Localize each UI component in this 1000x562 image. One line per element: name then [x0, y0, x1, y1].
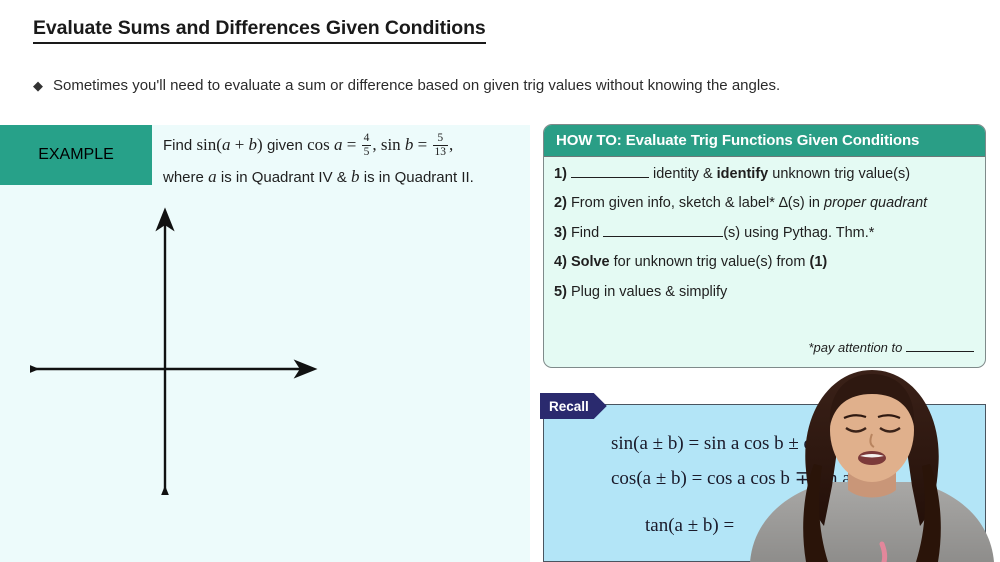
how-to-title: HOW TO: Evaluate Trig Functions Given Co… — [556, 132, 919, 149]
how-to-step-2: 2) From given info, sketch & label* ∆(s)… — [554, 195, 975, 212]
intro-bullet: ◆ Sometimes you'll need to evaluate a su… — [33, 76, 780, 96]
step-number: 2) — [554, 195, 567, 211]
fill-in-blank[interactable] — [906, 351, 974, 352]
recall-tag-label: Recall — [549, 399, 589, 414]
prompt-quadrant-ii: is in Quadrant II. — [364, 169, 474, 186]
prompt-quadrant-iv: is in Quadrant IV & — [221, 169, 347, 186]
step-italic-phrase: proper quadrant — [824, 195, 927, 211]
fraction-cos-a: 4 5 — [362, 132, 372, 157]
step-number: 5) — [554, 284, 567, 300]
formula-tangent-sum-difference: tan(a ± b) = — [645, 515, 734, 537]
how-to-step-4: 4) Solve for unknown trig value(s) from … — [554, 254, 975, 271]
page-title: Evaluate Sums and Differences Given Cond… — [33, 17, 486, 44]
step-text: for unknown trig value(s) from — [614, 254, 806, 270]
recall-tag: Recall — [540, 393, 607, 419]
step-bold-ref: (1) — [809, 254, 827, 270]
how-to-step-5: 5) Plug in values & simplify — [554, 284, 975, 301]
step-text-mid: in — [809, 195, 820, 211]
how-to-header: HOW TO: Evaluate Trig Functions Given Co… — [544, 125, 985, 157]
step-bold-word: identify — [717, 166, 769, 182]
prompt-var-a: a — [208, 167, 217, 186]
example-prompt: Find sin(a + b) given cos a = 4 5 , sin … — [163, 129, 523, 194]
example-prompt-line-2: where a is in Quadrant IV & b is in Quad… — [163, 161, 523, 193]
example-panel: EXAMPLE Find sin(a + b) given cos a = 4 … — [0, 125, 530, 562]
prompt-find-word: Find — [163, 137, 192, 154]
formula-cosine-sum-difference: cos(a ± b) = cos a cos b ∓ sin a sin b — [611, 467, 892, 490]
example-badge-label: EXAMPLE — [38, 146, 114, 164]
step-text: identity & — [653, 166, 713, 182]
fill-in-blank[interactable] — [571, 177, 649, 178]
prompt-given-word: given — [267, 137, 303, 154]
step-number: 1) — [554, 166, 567, 182]
fraction-sin-b: 5 13 — [433, 132, 449, 157]
step-number: 4) — [554, 254, 567, 270]
fraction-numerator: 5 — [435, 132, 445, 144]
step-text: Find — [571, 225, 599, 241]
how-to-step-3: 3) Find (s) using Pythag. Thm.* — [554, 225, 975, 242]
diamond-bullet-icon: ◆ — [33, 77, 43, 95]
formula-sine-sum-difference: sin(a ± b) = sin a cos b ± cos a sin b — [611, 433, 883, 455]
footnote-text: *pay attention to — [808, 340, 902, 355]
prompt-var-b: b — [351, 167, 360, 186]
step-text: From given info, sketch & label* — [571, 195, 775, 211]
triangle-icon: ∆(s) — [779, 195, 805, 211]
how-to-step-1: 1) identity & identify unknown trig valu… — [554, 166, 975, 183]
fraction-denominator: 13 — [433, 145, 449, 158]
example-prompt-line-1: Find sin(a + b) given cos a = 4 5 , sin … — [163, 129, 523, 161]
fraction-denominator: 5 — [362, 145, 372, 158]
prompt-where-word: where — [163, 169, 204, 186]
how-to-footnote: *pay attention to — [808, 340, 974, 355]
intro-bullet-text: Sometimes you'll need to evaluate a sum … — [53, 76, 780, 96]
fraction-numerator: 4 — [362, 132, 372, 144]
step-bold-lead: Solve — [571, 254, 610, 270]
step-text-tail: (s) using Pythag. Thm.* — [723, 225, 874, 241]
prompt-trailing-comma: , — [449, 135, 453, 154]
step-number: 3) — [554, 225, 567, 241]
example-badge: EXAMPLE — [0, 125, 152, 185]
step-text: Plug in values & simplify — [571, 284, 727, 300]
how-to-step-list: 1) identity & identify unknown trig valu… — [544, 157, 985, 301]
coordinate-axes-figure — [30, 205, 320, 495]
fill-in-blank[interactable] — [603, 236, 723, 237]
step-text-tail: unknown trig value(s) — [772, 166, 910, 182]
how-to-box: HOW TO: Evaluate Trig Functions Given Co… — [543, 124, 986, 368]
recall-box: sin(a ± b) = sin a cos b ± cos a sin b c… — [543, 404, 986, 562]
